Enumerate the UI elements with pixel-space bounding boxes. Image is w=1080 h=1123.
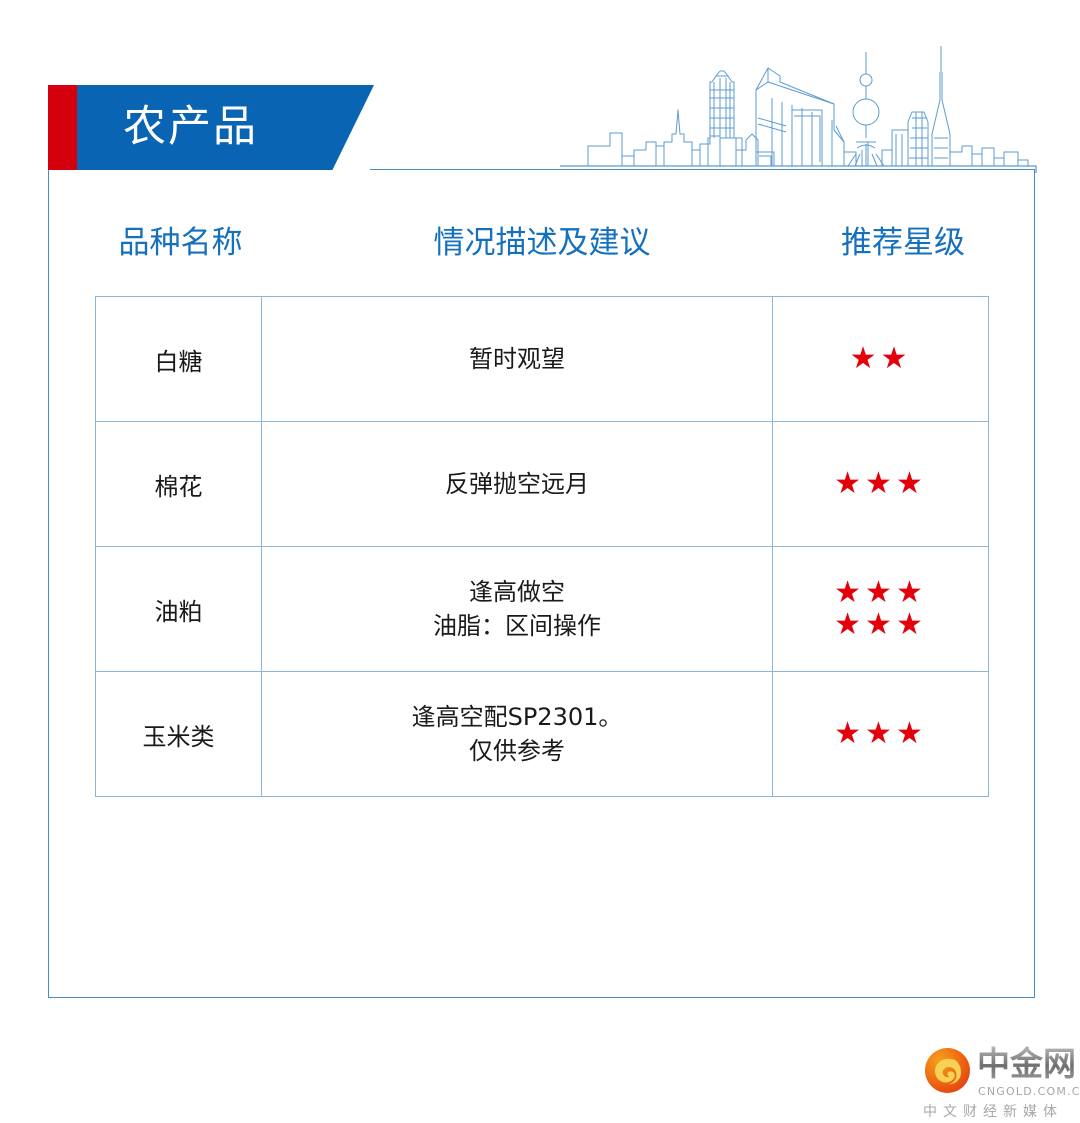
cell-variety-name: 白糖	[96, 297, 262, 422]
advice-line: 仅供参考	[262, 734, 772, 768]
cell-variety-name: 棉花	[96, 422, 262, 547]
star-rating-row: ★★	[773, 344, 988, 374]
column-header-advice: 情况描述及建议	[287, 215, 797, 271]
cell-advice: 逢高做空 油脂：区间操作	[262, 547, 773, 672]
commodity-advice-table: 白糖 暂时观望 ★★ 棉花 反弹抛空远月 ★★★ 油粕 逢高做空 油脂：区间操作…	[95, 296, 989, 797]
cell-advice: 暂时观望	[262, 297, 773, 422]
cell-variety-name: 油粕	[96, 547, 262, 672]
section-banner: 农产品	[48, 85, 374, 170]
table-row: 白糖 暂时观望 ★★	[96, 297, 989, 422]
star-rating-row: ★★★	[773, 578, 988, 608]
logo-tagline: 中文财经新媒体	[923, 1101, 1063, 1121]
advice-line: 油脂：区间操作	[262, 609, 772, 643]
table-row: 棉花 反弹抛空远月 ★★★	[96, 422, 989, 547]
site-logo: 中金网 CNGOLD.COM.CN 中文财经新媒体	[915, 1042, 1075, 1120]
cell-variety-name: 玉米类	[96, 672, 262, 797]
table-column-headers: 品种名称 情况描述及建议 推荐星级	[48, 215, 1035, 271]
star-rating-row: ★★★	[773, 469, 988, 499]
city-skyline-icon	[560, 38, 1040, 173]
table-row: 油粕 逢高做空 油脂：区间操作 ★★★★★★	[96, 547, 989, 672]
cell-rating: ★★	[773, 297, 989, 422]
table-body: 白糖 暂时观望 ★★ 棉花 反弹抛空远月 ★★★ 油粕 逢高做空 油脂：区间操作…	[96, 297, 989, 797]
advice-line: 逢高做空	[262, 575, 772, 609]
column-header-rating: 推荐星级	[797, 215, 1009, 271]
star-rating-row: ★★★	[773, 610, 988, 640]
advice-line: 反弹抛空远月	[262, 467, 772, 501]
star-rating-row: ★★★	[773, 719, 988, 749]
cell-rating: ★★★★★★	[773, 547, 989, 672]
cell-rating: ★★★	[773, 672, 989, 797]
banner-red-accent	[48, 85, 77, 170]
header-area: 农产品	[0, 0, 1080, 178]
logo-swirl-icon	[925, 1048, 970, 1093]
page-title: 农产品	[123, 85, 258, 170]
table-row: 玉米类 逢高空配SP2301。 仅供参考 ★★★	[96, 672, 989, 797]
cell-rating: ★★★	[773, 422, 989, 547]
advice-line: 逢高空配SP2301。	[262, 700, 772, 734]
logo-wordmark: 中金网	[977, 1046, 1076, 1082]
cell-advice: 逢高空配SP2301。 仅供参考	[262, 672, 773, 797]
cell-advice: 反弹抛空远月	[262, 422, 773, 547]
column-header-name: 品种名称	[74, 215, 287, 271]
advice-line: 暂时观望	[262, 342, 772, 376]
logo-domain: CNGOLD.COM.CN	[978, 1085, 1080, 1098]
